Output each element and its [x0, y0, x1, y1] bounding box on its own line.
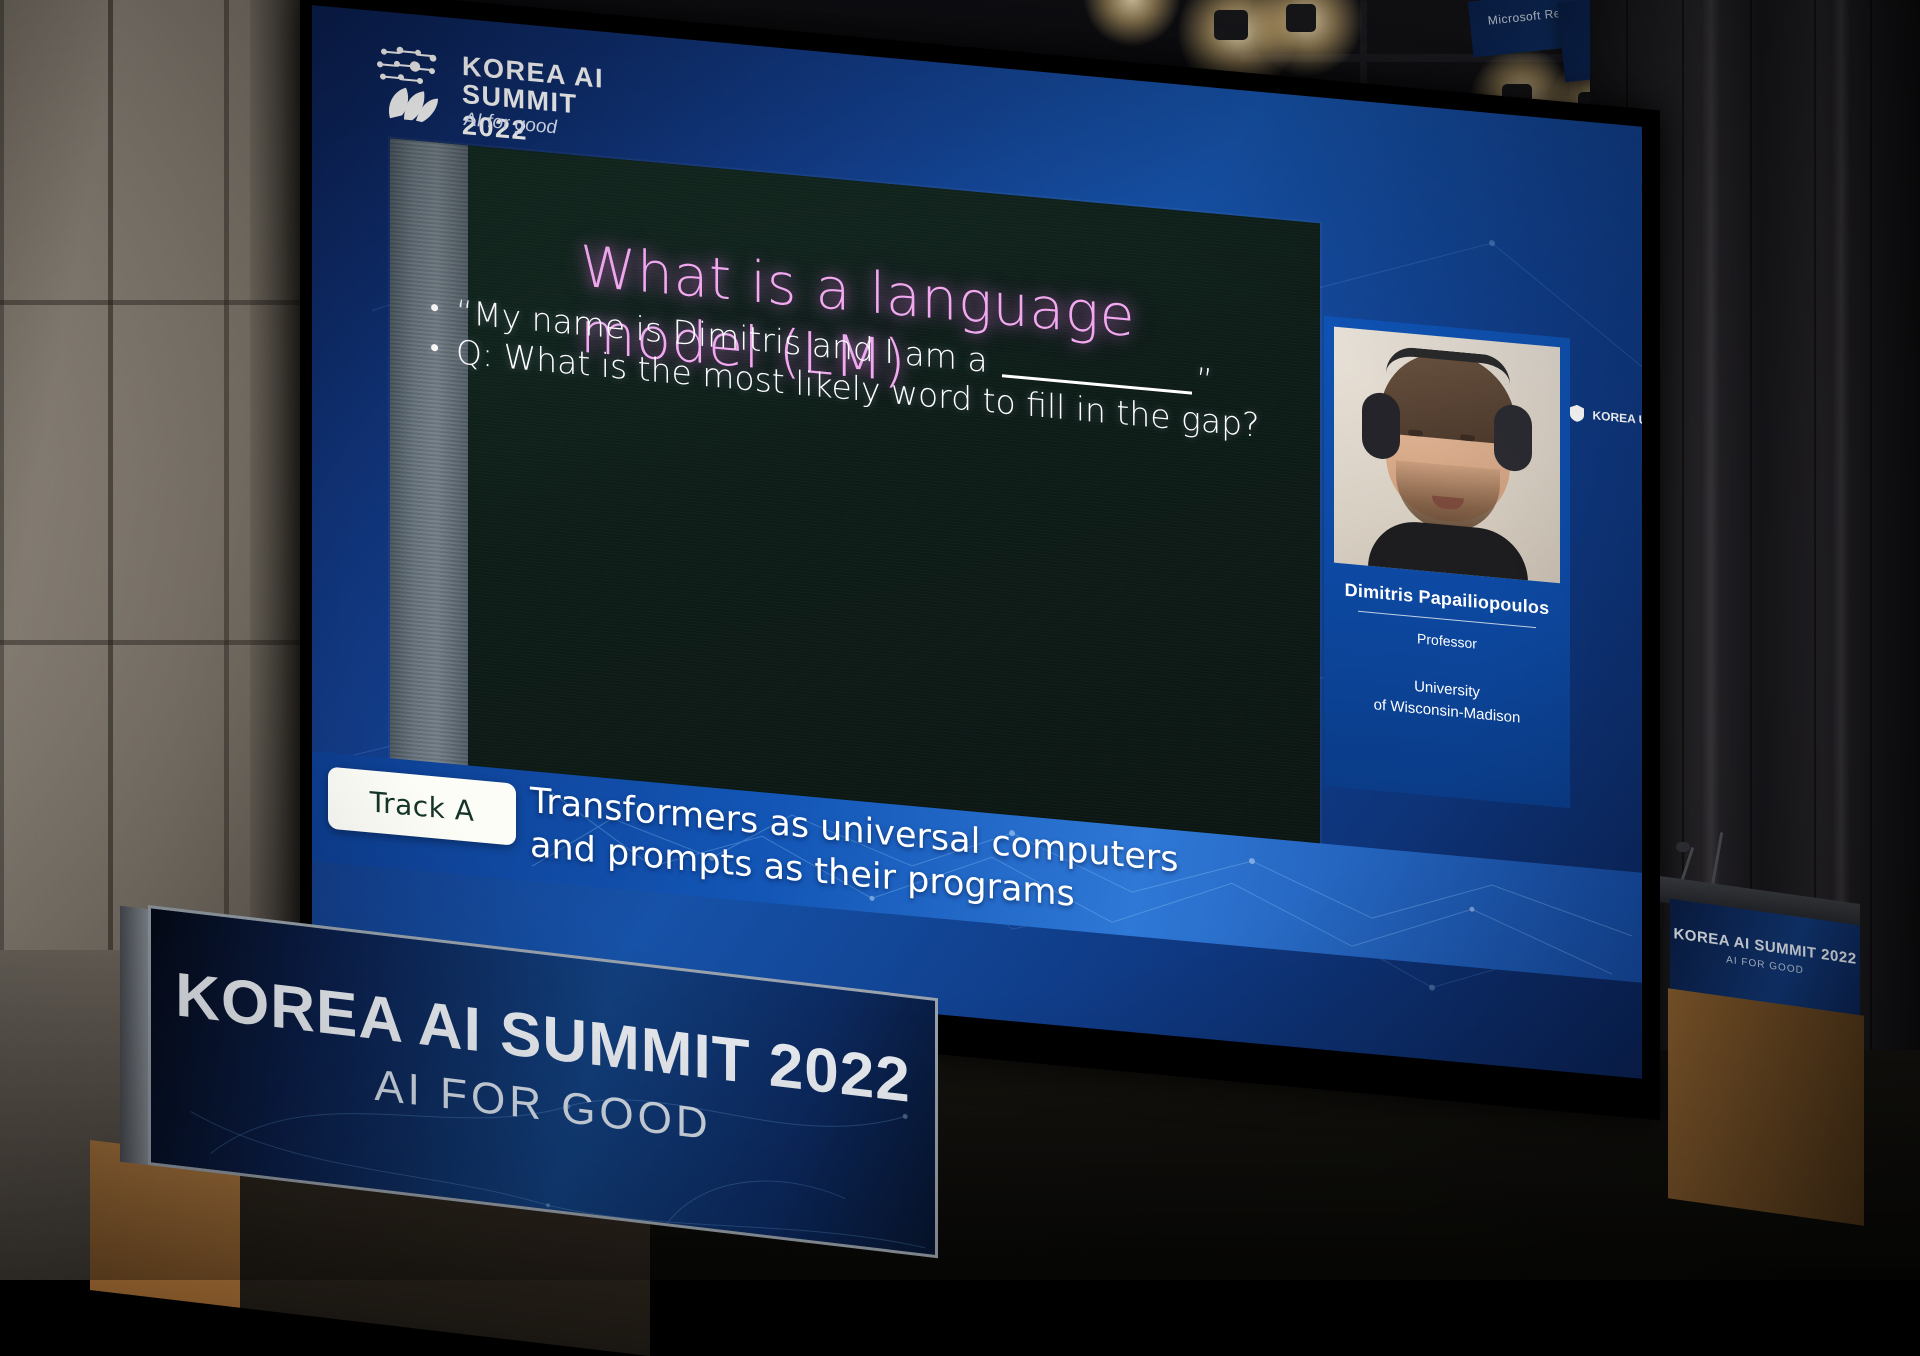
lectern: KOREA AI SUMMIT 2022 AI FOR GOOD	[1660, 890, 1880, 1220]
speaker-name: Dimitris Papailiopoulos	[1324, 578, 1570, 622]
speaker-organization: University of Wisconsin-Madison	[1324, 668, 1570, 735]
headphone-right-icon	[1494, 403, 1532, 472]
track-badge-label: Track A	[370, 785, 475, 828]
headphone-left-icon	[1362, 391, 1400, 460]
bullet-marker: •	[430, 290, 456, 329]
bullet-marker: •	[430, 330, 456, 369]
lectern-body	[1668, 988, 1864, 1226]
bullet-1-text-after: ”	[1196, 360, 1213, 401]
auditorium-scene: Microsoft Research 2022 KOREA AI SUMMIT	[0, 0, 1920, 1280]
speaker-card: Dimitris Papailiopoulos Professor Univer…	[1324, 316, 1570, 809]
microphone-head-icon	[1676, 842, 1690, 852]
speaker-video-portrait	[1334, 327, 1560, 584]
slide-left-rail	[390, 138, 468, 835]
summit-logo-mark-icon	[370, 38, 454, 130]
stage-sign-edge	[120, 906, 150, 1166]
korea-university-shield-icon	[1570, 404, 1584, 422]
screen-surface: KOREA AI SUMMIT 2022 AI for good Ministr…	[312, 5, 1642, 1079]
